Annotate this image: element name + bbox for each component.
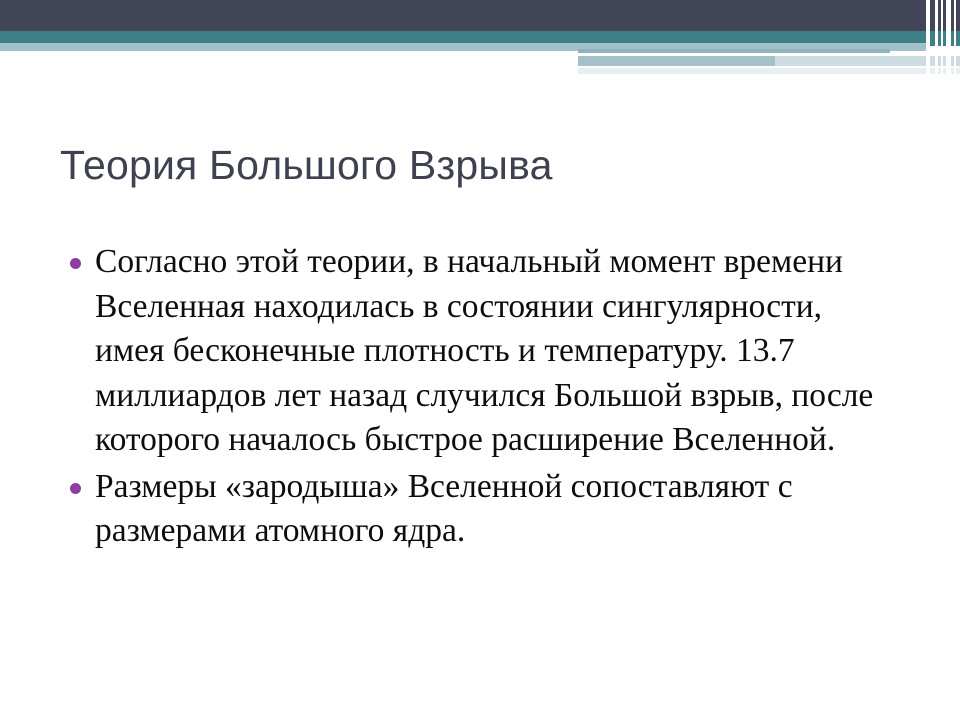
- banner-stripe: [941, 0, 943, 80]
- page-title: Теория Большого Взрыва: [60, 142, 920, 189]
- slide: Теория Большого Взрыва Согласно этой тео…: [0, 0, 960, 720]
- banner-vertical-stripes: [890, 0, 960, 80]
- banner-thin-rule: [578, 49, 890, 53]
- bullet-dot-icon: [70, 483, 81, 494]
- banner-stripe: [926, 0, 930, 80]
- banner-dark-band: [0, 0, 960, 31]
- banner-stripe: [954, 0, 956, 80]
- bullet-text: Согласно этой теории, в начальный момент…: [95, 240, 892, 463]
- list-item: Размеры «зародыша» Вселенной сопоставляю…: [62, 465, 892, 554]
- banner-pale-band-right: [578, 56, 775, 66]
- bullet-dot-icon: [70, 258, 81, 269]
- header-banner: [0, 0, 960, 80]
- banner-stripe: [946, 0, 951, 80]
- bullet-text: Размеры «зародыша» Вселенной сопоставляю…: [95, 465, 892, 554]
- slide-body: Согласно этой теории, в начальный момент…: [62, 240, 892, 556]
- list-item: Согласно этой теории, в начальный момент…: [62, 240, 892, 463]
- banner-stripe: [935, 0, 938, 80]
- bullet-list: Согласно этой теории, в начальный момент…: [62, 240, 892, 554]
